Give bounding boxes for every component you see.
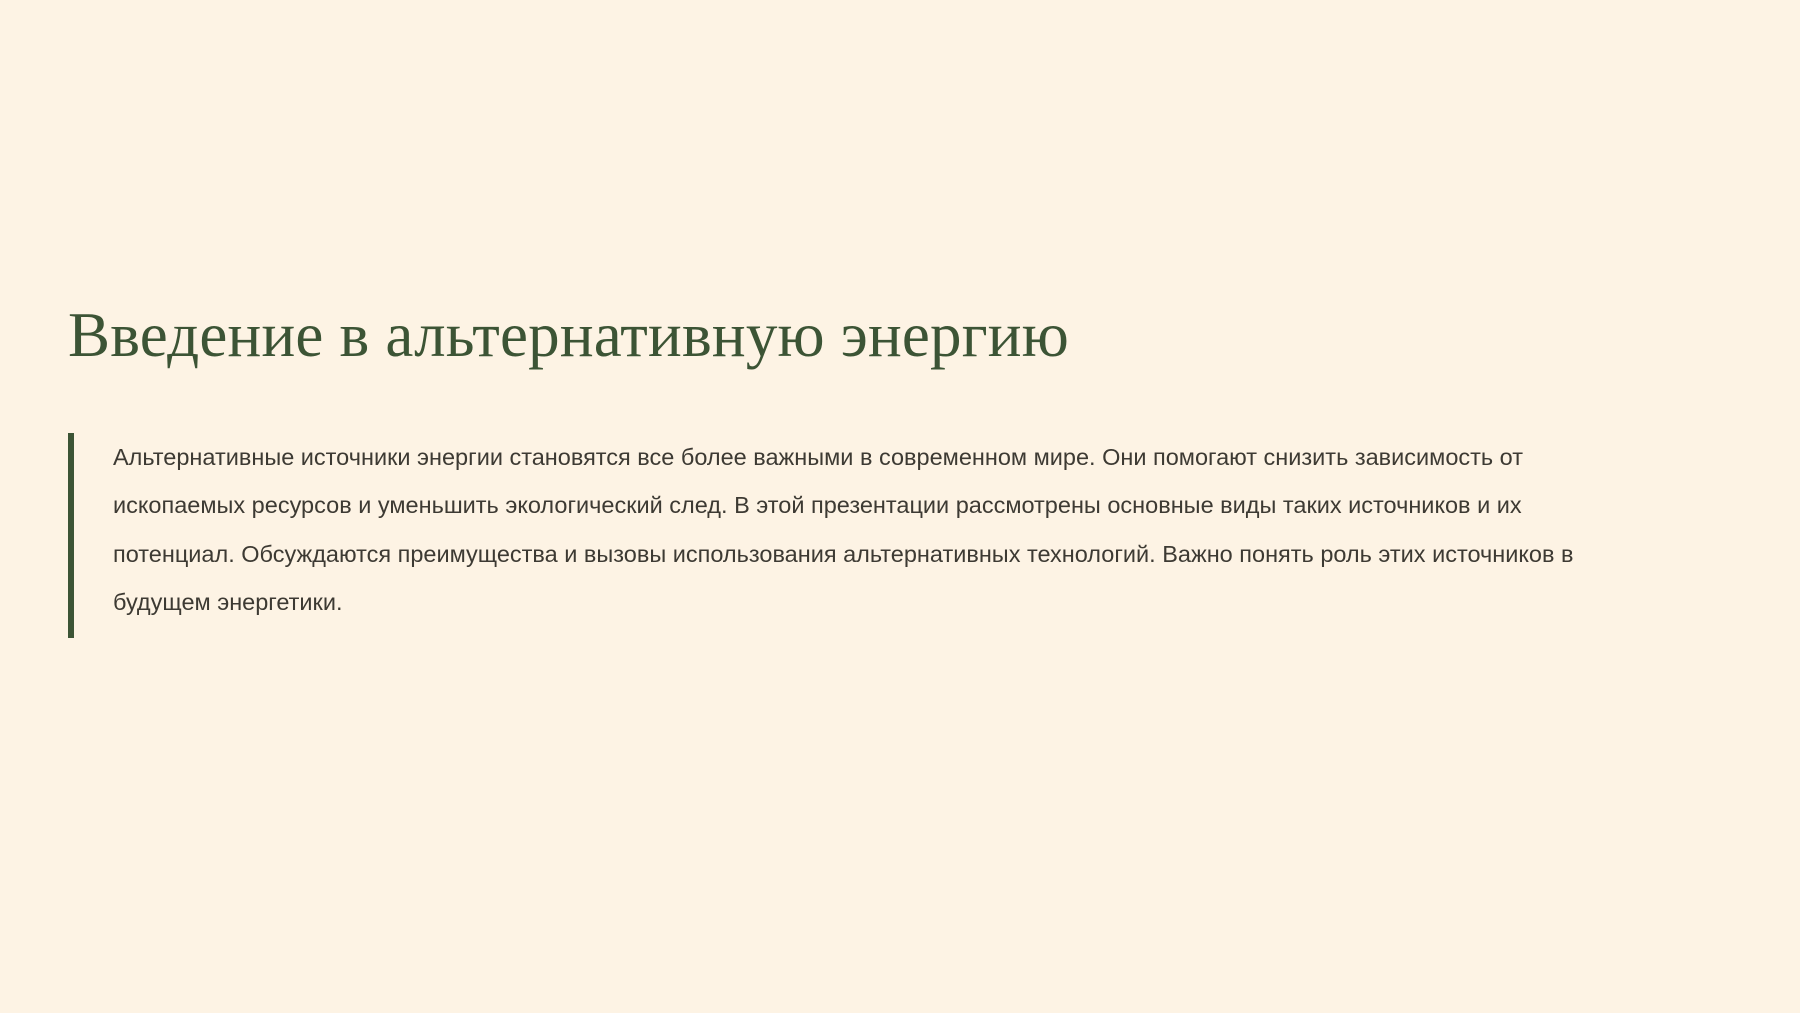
quoted-body-block: Альтернативные источники энергии становя… [68,433,1708,638]
accent-bar [68,433,74,638]
slide-title: Введение в альтернативную энергию [68,300,1708,371]
presentation-slide: Введение в альтернативную энергию Альтер… [0,0,1800,1013]
slide-content: Введение в альтернативную энергию Альтер… [68,300,1708,638]
slide-body-text: Альтернативные источники энергии становя… [113,433,1643,627]
